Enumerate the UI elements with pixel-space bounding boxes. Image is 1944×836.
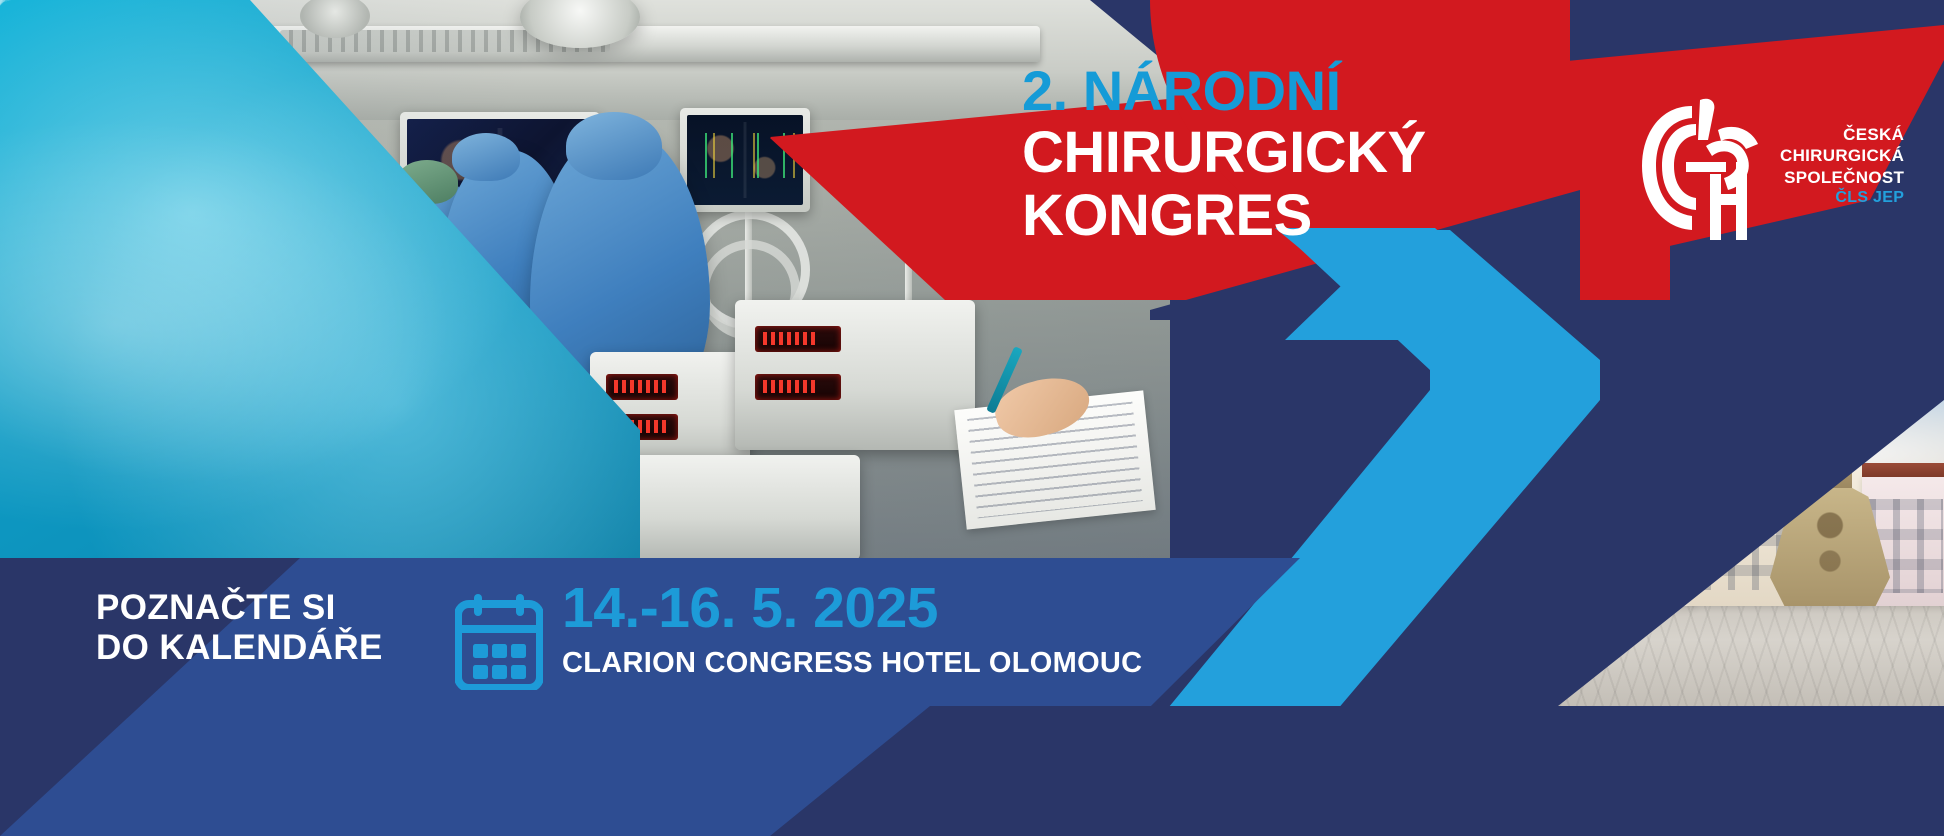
save-the-date-line-2: DO KALENDÁŘE xyxy=(96,628,383,668)
logo-line-2: CHIRURGICKÁ xyxy=(1780,145,1904,166)
logo-line-1: ČESKÁ xyxy=(1780,124,1904,145)
event-venue: CLARION CONGRESS HOTEL OLOMOUC xyxy=(562,646,1142,681)
society-logo: ČESKÁ CHIRURGICKÁ SPOLEČNOST ČLS JEP xyxy=(1640,86,1940,246)
congress-promo-banner: 2. NÁRODNÍ CHIRURGICKÝ KONGRES ČESKÁ CHI… xyxy=(0,0,1944,836)
logo-line-4: ČLS JEP xyxy=(1780,188,1904,208)
event-details: 14.-16. 5. 2025 CLARION CONGRESS HOTEL O… xyxy=(562,580,1142,681)
ccs-monogram-icon xyxy=(1640,90,1766,242)
save-the-date-line-1: POZNAČTE SI xyxy=(96,588,383,628)
page-title: 2. NÁRODNÍ CHIRURGICKÝ KONGRES xyxy=(1022,62,1662,245)
event-date: 14.-16. 5. 2025 xyxy=(562,580,1142,637)
save-the-date-label: POZNAČTE SI DO KALENDÁŘE xyxy=(96,588,383,668)
headline-line-3: KONGRES xyxy=(1022,186,1662,245)
society-logo-text: ČESKÁ CHIRURGICKÁ SPOLEČNOST ČLS JEP xyxy=(1780,124,1904,208)
headline-line-1: 2. NÁRODNÍ xyxy=(1022,62,1662,119)
headline-line-2: CHIRURGICKÝ xyxy=(1022,123,1662,182)
logo-line-3: SPOLEČNOST xyxy=(1780,167,1904,188)
calendar-icon xyxy=(455,594,543,690)
